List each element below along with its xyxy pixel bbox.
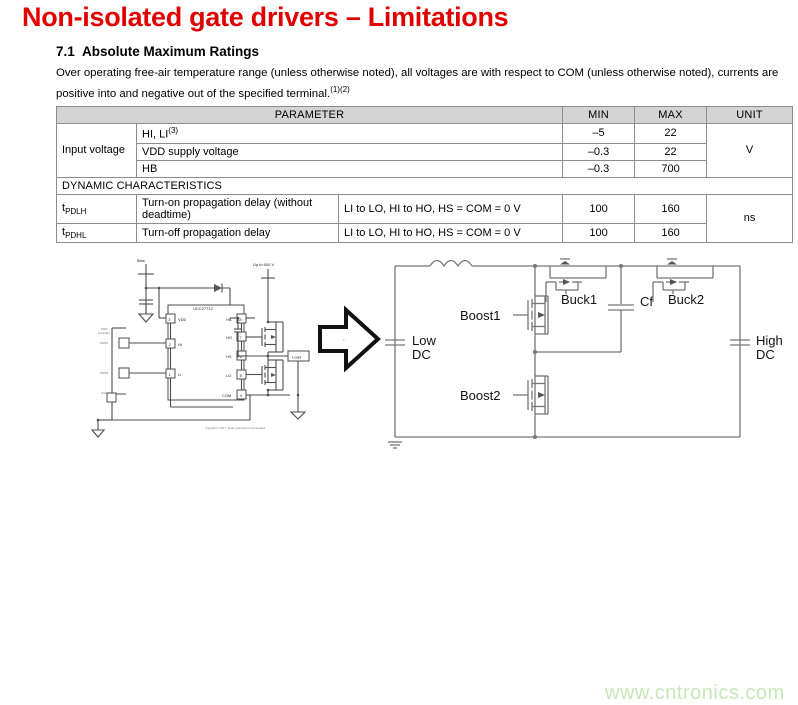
table-row: tPDLH Turn-on propagation delay (without…	[57, 194, 793, 223]
table-header-row: PARAMETER MIN MAX UNIT	[57, 107, 793, 124]
device-label: UCC27712	[193, 306, 214, 311]
boost1-label: Boost1	[460, 308, 500, 323]
row-unit-voltage: V	[707, 124, 793, 178]
section-heading: 7.1Absolute Maximum Ratings	[56, 44, 259, 59]
pin-hi-label: HI	[178, 342, 182, 347]
pwm-controller-label-line1: PWM	[101, 327, 108, 331]
row-min-tpdhl: 100	[563, 223, 635, 242]
pwm2-label: PWM2	[100, 371, 109, 375]
row-max-tpdlh: 160	[635, 194, 707, 223]
section-heading-text: Absolute Maximum Ratings	[82, 44, 259, 59]
row-param-hi-li: HI, LI(3)	[137, 124, 563, 144]
row-cond-tpdlh: LI to LO, HI to HO, HS = COM = 0 V	[339, 194, 563, 223]
table-row: Input voltage HI, LI(3) –5 22 V	[57, 124, 793, 144]
power-schematic-group: Low DC	[385, 259, 783, 448]
schematic-illustration: .w{stroke:#4d4d4d;stroke-width:1.1;fill:…	[0, 252, 798, 461]
table-row: VDD supply voltage –0.3 22	[57, 143, 793, 160]
row-symbol-tpdhl: tPDHL	[57, 223, 137, 242]
copyright-text: Copyright © 2017, Texas Instruments Inco…	[205, 426, 266, 430]
high-dc-label-line1: High	[756, 333, 783, 348]
row-symbol-tpdhl-sub: PDHL	[65, 231, 86, 240]
pin-ho-label: HO	[226, 335, 232, 340]
low-dc-label-line2: DC	[412, 347, 431, 362]
high-dc-label-line2: DC	[756, 347, 775, 362]
header-max: MAX	[635, 107, 707, 124]
row-min-hb: –0.3	[563, 160, 635, 177]
diagram-area: .w{stroke:#4d4d4d;stroke-width:1.1;fill:…	[0, 252, 798, 461]
header-min: MIN	[563, 107, 635, 124]
row-max-hb: 700	[635, 160, 707, 177]
buck2-label: Buck2	[668, 292, 704, 307]
page-title: Non-isolated gate drivers – Limitations	[22, 2, 508, 33]
table-row: tPDHL Turn-off propagation delay LI to L…	[57, 223, 793, 242]
row-param-vdd: VDD supply voltage	[137, 143, 563, 160]
section-number: 7.1	[56, 44, 82, 59]
table-section-row-dynamic: DYNAMIC CHARACTERISTICS	[57, 177, 793, 194]
row-param-hi-li-text: HI, LI	[142, 129, 168, 141]
row-param-tpdhl: Turn-off propagation delay	[137, 223, 339, 242]
row-max-vdd: 22	[635, 143, 707, 160]
intro-line-1: Over operating free-air temperature rang…	[56, 67, 676, 79]
hv-label: Up to 600 V	[253, 262, 274, 267]
gnd-pad	[107, 393, 116, 402]
intro-paragraph: Over operating free-air temperature rang…	[56, 66, 792, 102]
site-watermark: www.cntronics.com	[605, 682, 785, 705]
row-unit-time: ns	[707, 194, 793, 242]
process-arrow-icon: ɔ	[320, 310, 378, 368]
footnote-ref-3: (3)	[168, 126, 178, 135]
pwm1-pad	[119, 338, 129, 348]
table-row: HB –0.3 700	[57, 160, 793, 177]
driver-schematic-group: Bias UCC27712	[92, 258, 309, 437]
row-symbol-tpdlh-sub: PDLH	[65, 207, 86, 216]
header-parameter: PARAMETER	[57, 107, 563, 124]
row-max-hi-li: 22	[635, 124, 707, 144]
header-unit: UNIT	[707, 107, 793, 124]
pin-lo-label: LO	[226, 373, 231, 378]
pwm2-pad	[119, 368, 129, 378]
gnd-label: GND	[101, 391, 107, 395]
boost2-label: Boost2	[460, 388, 500, 403]
intro-footnote-refs: (1)(2)	[330, 85, 350, 94]
pin-li-label: LI	[178, 372, 181, 377]
bias-label: Bias	[137, 258, 145, 263]
row-max-tpdhl: 160	[635, 223, 707, 242]
load-label: Load	[292, 354, 301, 359]
pin-hs-label: HS	[226, 354, 232, 359]
row-symbol-tpdlh: tPDLH	[57, 194, 137, 223]
row-min-vdd: –0.3	[563, 143, 635, 160]
cf-label: Cf	[640, 294, 653, 309]
pwm1-label: PWM1	[100, 341, 109, 345]
buck2-mosfet: Buck2	[621, 259, 740, 307]
row-min-tpdlh: 100	[563, 194, 635, 223]
pin-com-label: COM	[222, 393, 231, 398]
section-row-label: DYNAMIC CHARACTERISTICS	[57, 177, 793, 194]
row-cond-tpdhl: LI to LO, HI to HO, HS = COM = 0 V	[339, 223, 563, 242]
row-min-hi-li: –5	[563, 124, 635, 144]
low-dc-label-line1: Low	[412, 333, 436, 348]
row-param-tpdlh: Turn-on propagation delay (without deadt…	[137, 194, 339, 223]
high-side-mosfet	[246, 322, 283, 352]
pwm-controller-label-line2: Controller	[98, 331, 110, 335]
pin-vdd-label: VDD	[178, 317, 187, 322]
low-side-mosfet	[246, 360, 283, 390]
buck1-label: Buck1	[561, 292, 597, 307]
absolute-maximum-ratings-table: PARAMETER MIN MAX UNIT Input voltage HI,…	[56, 106, 793, 243]
row-group-input-voltage: Input voltage	[57, 124, 137, 178]
row-param-hb: HB	[137, 160, 563, 177]
